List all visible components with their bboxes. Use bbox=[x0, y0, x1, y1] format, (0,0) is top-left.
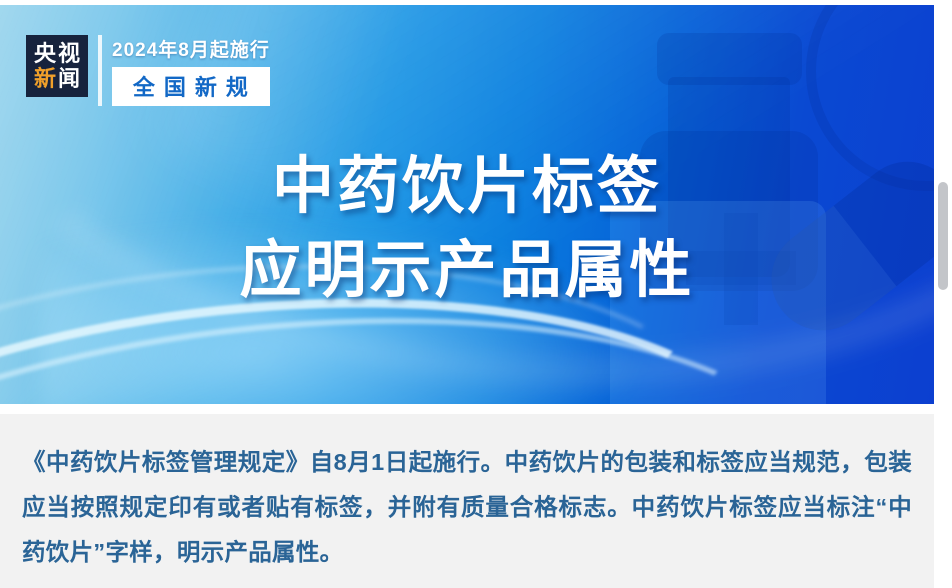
article-body-text: 《中药饮片标签管理规定》自8月1日起施行。中药饮片的包装和标签应当规范，包装应当… bbox=[22, 440, 912, 575]
vertical-scrollbar-thumb[interactable] bbox=[938, 182, 948, 290]
logo-char-2: 视 bbox=[58, 43, 80, 65]
badge-series-title: 全国新规 bbox=[112, 67, 270, 106]
section-divider bbox=[0, 404, 934, 414]
logo-char-1: 央 bbox=[34, 43, 56, 65]
cctv-news-logo: 央 视 新 闻 bbox=[26, 35, 88, 97]
hero-title: 中药饮片标签 应明示产品属性 bbox=[0, 145, 934, 313]
hero-banner: 央 视 新 闻 2024年8月起施行 全国新规 中药饮片标签 应明示产品属性 bbox=[0, 5, 934, 404]
logo-char-4: 闻 bbox=[58, 68, 80, 90]
logo-char-3: 新 bbox=[34, 68, 56, 90]
badge-divider bbox=[98, 35, 102, 106]
article-body-panel: 《中药饮片标签管理规定》自8月1日起施行。中药饮片的包装和标签应当规范，包装应当… bbox=[0, 414, 934, 588]
hero-title-line-2: 应明示产品属性 bbox=[0, 229, 934, 313]
page-scroll-container[interactable]: 央 视 新 闻 2024年8月起施行 全国新规 中药饮片标签 应明示产品属性 《… bbox=[0, 0, 934, 588]
badge-text-block: 2024年8月起施行 全国新规 bbox=[112, 35, 270, 106]
hero-title-line-1: 中药饮片标签 bbox=[0, 145, 934, 229]
badge-effective-date: 2024年8月起施行 bbox=[112, 35, 270, 62]
vertical-scrollbar-track[interactable] bbox=[934, 0, 952, 588]
channel-badge: 央 视 新 闻 2024年8月起施行 全国新规 bbox=[26, 35, 270, 106]
